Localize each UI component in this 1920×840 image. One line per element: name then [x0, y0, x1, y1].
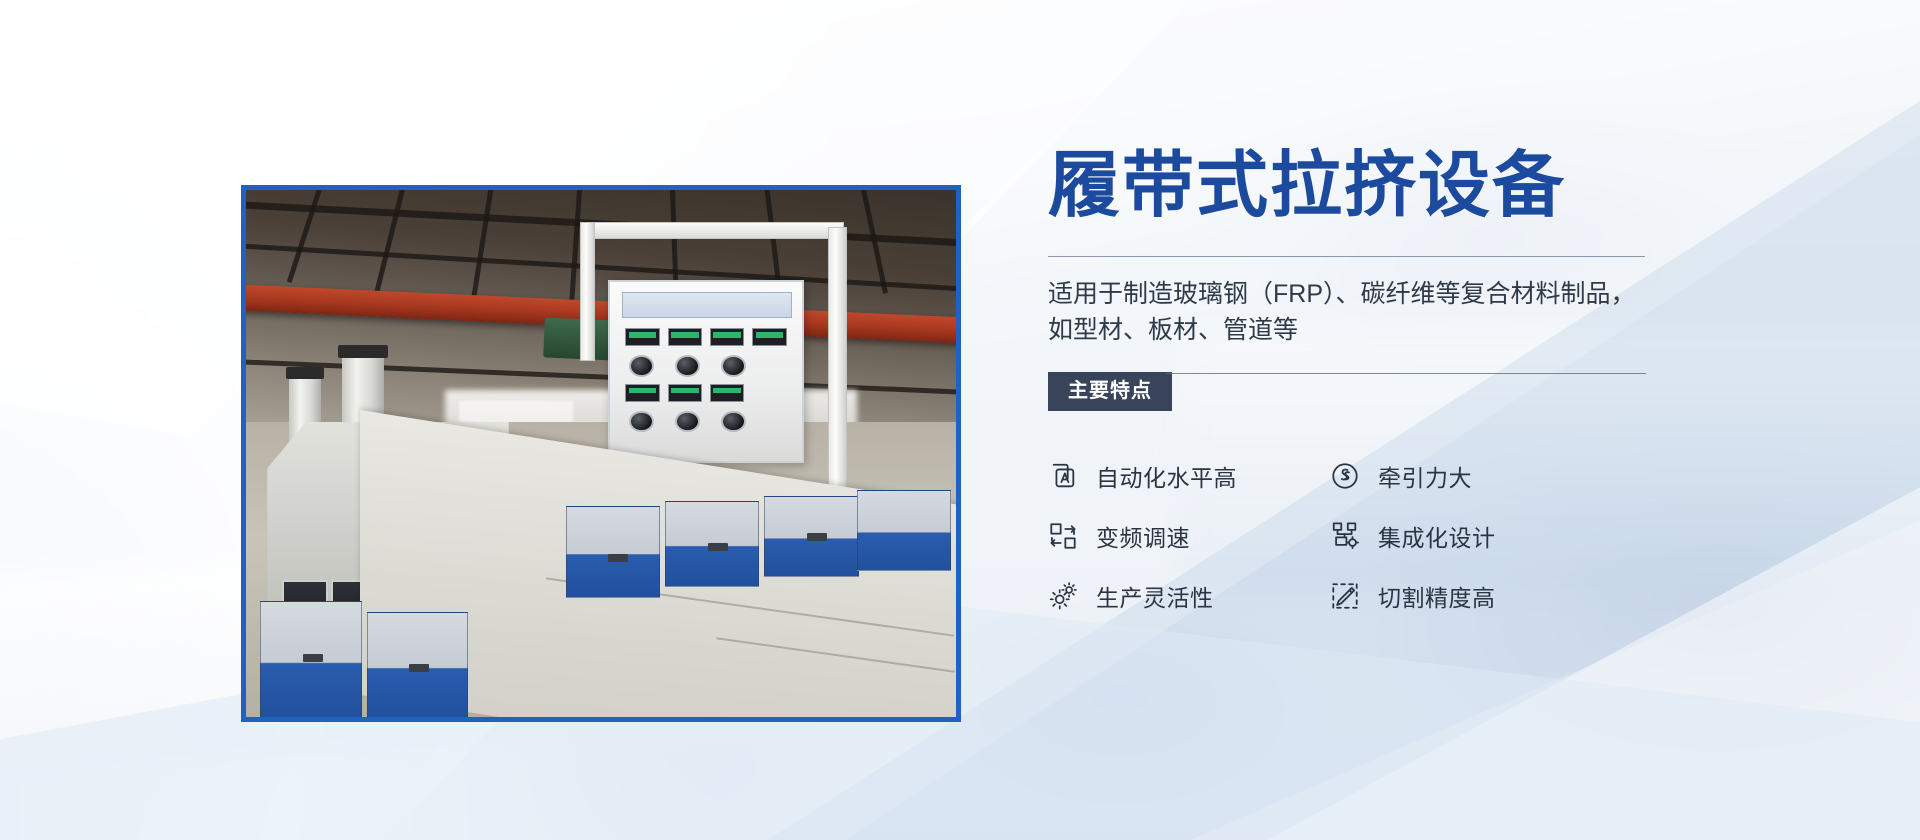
panel-meter — [625, 384, 660, 402]
cabinet-handle — [608, 554, 628, 562]
feature-label: 集成化设计 — [1378, 519, 1496, 553]
status-badge: 主要特点 — [1048, 372, 1172, 411]
panel-meter — [625, 328, 660, 346]
layers-a-icon — [1048, 461, 1078, 491]
feature-label: 自动化水平高 — [1096, 459, 1237, 493]
page-title: 履带式拉挤设备 — [1048, 150, 1668, 222]
feature-label: 切割精度高 — [1378, 579, 1496, 613]
cabinet-handle — [708, 543, 728, 551]
integrated-design-icon — [1330, 521, 1360, 551]
feature-item-frequency: 变频调速 — [1048, 506, 1330, 566]
machine-cabinet — [566, 506, 660, 598]
badge-divider — [1166, 373, 1646, 374]
title-divider — [1048, 256, 1645, 257]
panel-knob — [721, 355, 746, 377]
feature-item-flexibility: 生产灵活性 — [1048, 566, 1330, 626]
product-description: 适用于制造玻璃钢（FRP）、碳纤维等复合材料制品，如型材、板材、管道等 — [1048, 277, 1648, 348]
gantry-arm — [580, 222, 845, 239]
machine-cabinet — [857, 490, 951, 571]
control-panel — [608, 280, 804, 463]
feature-item-integrated: 集成化设计 — [1330, 506, 1612, 566]
cabinet-handle — [303, 654, 323, 662]
gantry-post — [580, 222, 595, 361]
panel-knob — [675, 355, 700, 377]
badge-row: 主要特点 — [1048, 372, 1668, 412]
feature-label: 牵引力大 — [1378, 459, 1472, 493]
panel-meter — [710, 328, 745, 346]
panel-meter — [668, 328, 703, 346]
cabinet-handle — [807, 533, 827, 541]
banner-content: 履带式拉挤设备 适用于制造玻璃钢（FRP）、碳纤维等复合材料制品，如型材、板材、… — [1048, 150, 1668, 626]
panel-meter — [752, 328, 787, 346]
feature-list: 自动化水平高 牵引力大 — [1048, 446, 1668, 626]
traction-force-icon — [1330, 461, 1360, 491]
precision-cut-icon — [1330, 581, 1360, 611]
panel-knob — [629, 355, 654, 377]
gears-icon — [1048, 581, 1078, 611]
product-photo — [246, 190, 956, 717]
feature-item-traction: 牵引力大 — [1330, 446, 1612, 506]
feature-item-automation: 自动化水平高 — [1048, 446, 1330, 506]
frequency-convert-icon — [1048, 521, 1078, 551]
panel-knob — [675, 411, 700, 433]
cylinder-cap — [286, 367, 324, 379]
panel-meter — [668, 384, 703, 402]
panel-meter — [710, 384, 745, 402]
feature-label: 变频调速 — [1096, 519, 1190, 553]
feature-item-cutting: 切割精度高 — [1330, 566, 1612, 626]
panel-knob — [629, 411, 654, 433]
panel-knob — [721, 411, 746, 433]
product-banner: 履带式拉挤设备 适用于制造玻璃钢（FRP）、碳纤维等复合材料制品，如型材、板材、… — [0, 0, 1920, 840]
product-photo-frame — [241, 185, 961, 722]
cabinet-handle — [409, 664, 429, 672]
feature-label: 生产灵活性 — [1096, 579, 1214, 613]
control-panel-header — [622, 292, 793, 317]
cylinder-cap — [338, 345, 388, 358]
